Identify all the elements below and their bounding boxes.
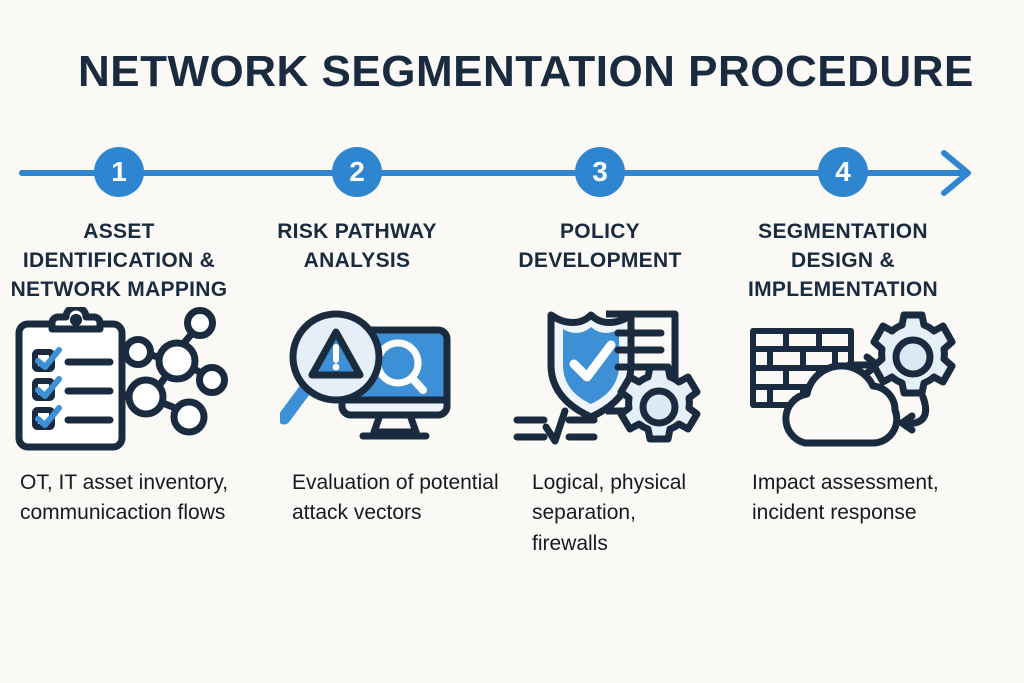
step-label-4: SEGMENTATION DESIGN & IMPLEMENTATION xyxy=(723,218,963,305)
step-circle-4[interactable]: 4 xyxy=(818,147,868,197)
firewall-cloud-gear-icon xyxy=(745,303,960,458)
step-circle-1[interactable]: 1 xyxy=(94,147,144,197)
step-label-3: POLICY DEVELOPMENT xyxy=(480,218,720,276)
timeline: 1 2 3 4 xyxy=(0,140,1024,210)
clipboard-network-icon xyxy=(14,307,238,457)
step-description-4: Impact assessment, incident response xyxy=(752,468,1004,529)
page-title: NETWORK SEGMENTATION PROCEDURE xyxy=(78,48,958,96)
step-description-2: Evaluation of potential attack vectors xyxy=(292,468,507,529)
step-description-1: OT, IT asset inventory, communicaction f… xyxy=(20,468,272,529)
timeline-arrow-icon xyxy=(0,140,1024,210)
step-label-1: ASSET IDENTIFICATION & NETWORK MAPPING xyxy=(0,218,239,305)
step-description-3: Logical, physical separation, firewalls xyxy=(532,468,712,559)
step-label-2: RISK PATHWAY ANALYSIS xyxy=(237,218,477,276)
step-circle-3[interactable]: 3 xyxy=(575,147,625,197)
infographic-canvas: NETWORK SEGMENTATION PROCEDURE 1 2 3 4 A… xyxy=(0,0,1024,683)
magnifier-monitor-warning-icon xyxy=(280,305,470,458)
step-circle-2[interactable]: 2 xyxy=(332,147,382,197)
shield-document-gear-icon xyxy=(503,303,703,460)
